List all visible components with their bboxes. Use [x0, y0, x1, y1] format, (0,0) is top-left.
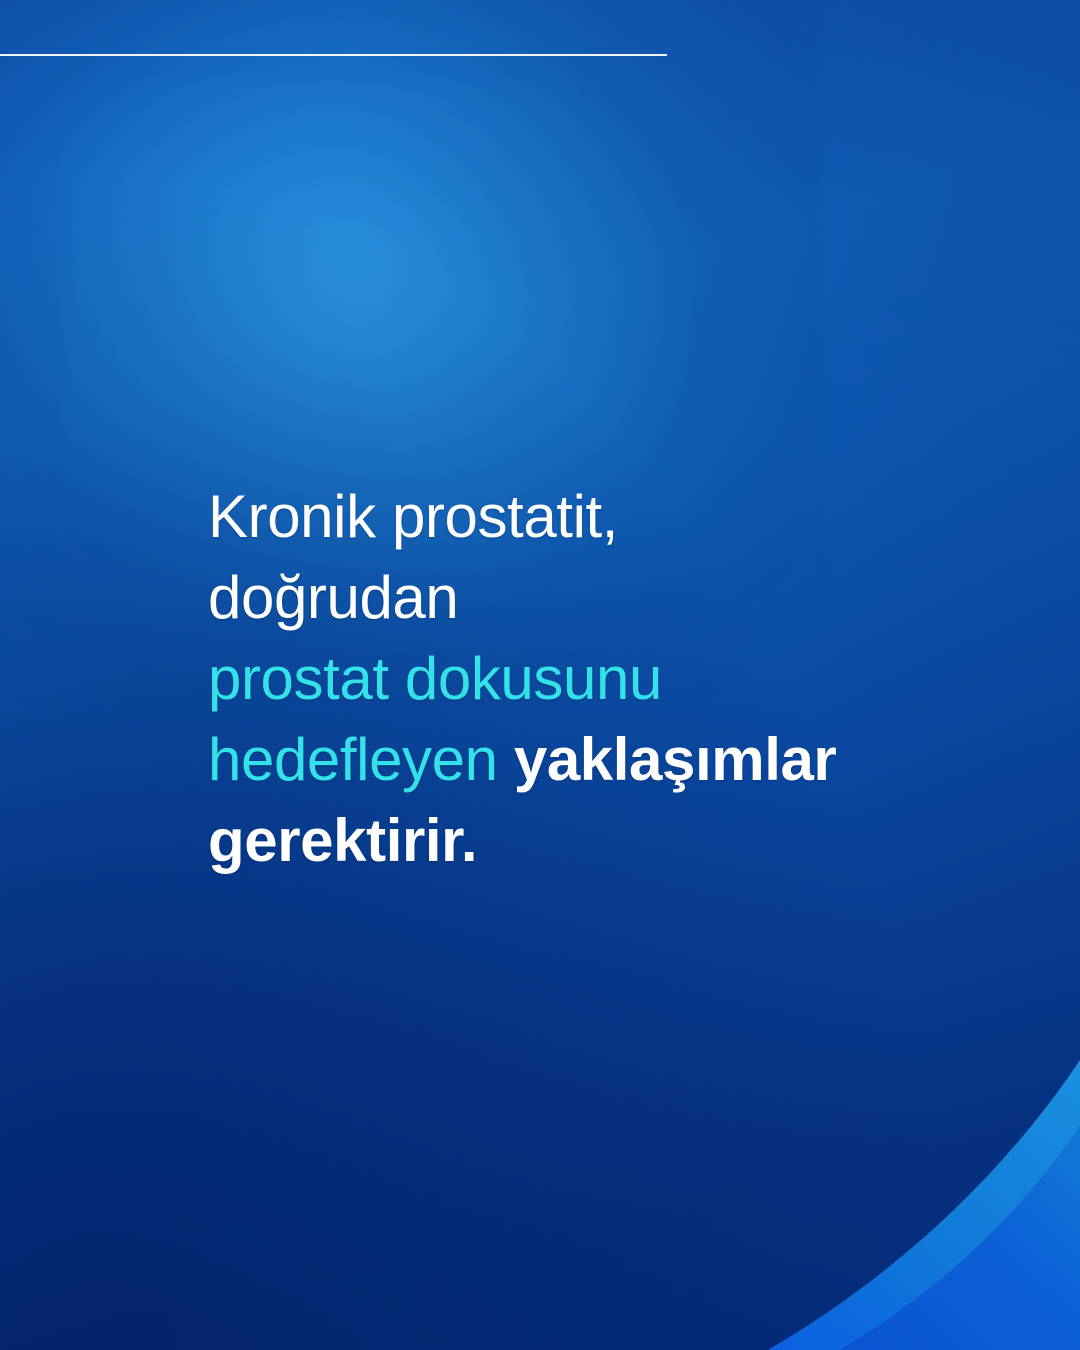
social-card: Kronik prostatit,doğrudanprostat dokusun…	[0, 0, 1080, 1350]
headline-segment-3-accent: prostat dokusunu	[208, 645, 662, 712]
top-divider-rule	[0, 54, 667, 56]
headline-segment-4-accent: hedefleyen	[208, 726, 514, 793]
headline-segment-2: doğrudan	[208, 564, 458, 631]
headline-segment-5-bold: yaklaşımlar	[514, 726, 837, 793]
headline: Kronik prostatit,doğrudanprostat dokusun…	[208, 476, 968, 881]
headline-segment-6-bold: gerektirir.	[208, 807, 477, 874]
headline-segment-1: Kronik prostatit,	[208, 483, 618, 550]
